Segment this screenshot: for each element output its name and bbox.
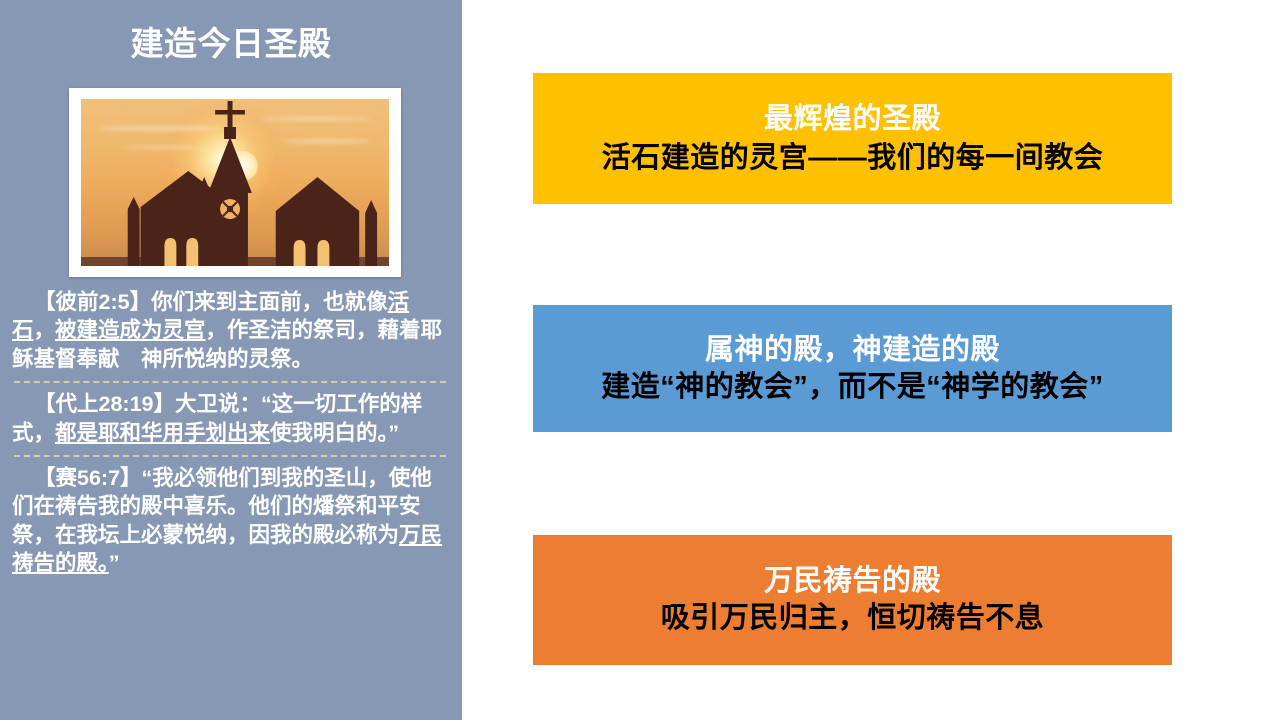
verse-underline: 被建造成为灵宫 <box>55 318 206 342</box>
church-silhouette-shape <box>81 99 389 266</box>
church-silhouette-icon <box>81 99 389 266</box>
verse-reference: 【彼前2:5】 <box>34 290 151 314</box>
verse-item: 【彼前2:5】你们来到主面前，也就像活石，被建造成为灵宫，作圣洁的祭司，藉着耶稣… <box>6 288 456 373</box>
verse-text-post: ” <box>109 551 120 575</box>
verse-underline: 都是耶和华用手划出来 <box>55 421 270 445</box>
verse-text-mid: ， <box>34 318 56 342</box>
verse-item: 【赛56:7】“我必领他们到我的圣山，使他们在祷告我的殿中喜乐。他们的燔祭和平安… <box>6 464 456 578</box>
panel-subtitle: 建造“神的教会”，而不是“神学的教会” <box>601 370 1104 405</box>
panel-gods-temple: 属神的殿，神建造的殿 建造“神的教会”，而不是“神学的教会” <box>533 305 1172 432</box>
verse-item: 【代上28:19】大卫说：“这一切工作的样式，都是耶和华用手划出来使我明白的。” <box>6 390 456 447</box>
verse-divider <box>14 381 446 383</box>
verse-reference: 【赛56:7】 <box>34 466 142 490</box>
panel-title: 属神的殿，神建造的殿 <box>705 333 1000 368</box>
panel-title: 万民祷告的殿 <box>764 564 941 599</box>
panel-title: 最辉煌的圣殿 <box>764 102 941 137</box>
panel-house-of-prayer: 万民祷告的殿 吸引万民归主，恒切祷告不息 <box>533 535 1172 665</box>
photo-frame <box>69 88 401 277</box>
sidebar-panel: 建造今日圣殿 <box>0 0 462 720</box>
verse-list: 【彼前2:5】你们来到主面前，也就像活石，被建造成为灵宫，作圣洁的祭司，藉着耶稣… <box>6 288 456 577</box>
verse-text-pre: 你们来到主面前，也就像 <box>151 290 388 314</box>
panel-subtitle: 活石建造的灵宫——我们的每一间教会 <box>602 141 1104 176</box>
verse-divider <box>14 455 446 457</box>
panel-subtitle: 吸引万民归主，恒切祷告不息 <box>661 601 1045 636</box>
verse-text-post: 使我明白的。” <box>270 421 399 445</box>
verse-reference: 【代上28:19】 <box>34 392 175 416</box>
panel-most-glorious-temple: 最辉煌的圣殿 活石建造的灵宫——我们的每一间教会 <box>533 73 1172 204</box>
page-title: 建造今日圣殿 <box>0 26 462 62</box>
